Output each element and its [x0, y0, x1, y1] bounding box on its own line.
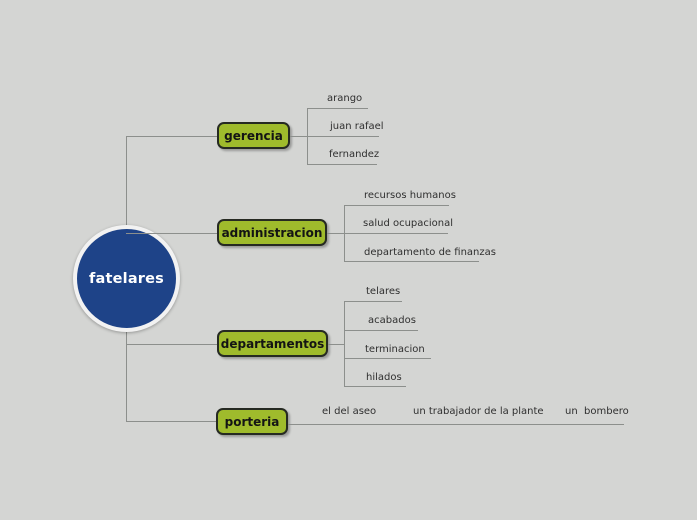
leaf-underline-terminacion: [344, 358, 431, 359]
leaf-underline-arango: [307, 108, 368, 109]
leaf-label-telares[interactable]: telares: [366, 286, 400, 298]
leaf-label-el-del-aseo[interactable]: el del aseo: [322, 406, 376, 418]
leaf-underline-porteria-group: [288, 424, 624, 425]
leaf-underline-acabados: [344, 330, 418, 331]
branch-node-departamentos[interactable]: departamentos: [217, 330, 328, 357]
leaf-underline-telares: [344, 301, 402, 302]
connector-root-to-gerencia: [126, 136, 218, 137]
leaf-underline-juan-rafael: [307, 136, 379, 137]
root-node-fatelares[interactable]: fatelares: [73, 225, 180, 332]
leaf-label-departamento-de-finanzas[interactable]: departamento de finanzas: [364, 247, 496, 259]
leaf-underline-departamento-de-finanzas: [344, 261, 479, 262]
connector-gerencia-stub: [290, 136, 308, 137]
leaf-underline-salud-ocupacional: [344, 233, 448, 234]
branch-node-label: porteria: [225, 415, 280, 429]
leaf-label-arango[interactable]: arango: [327, 93, 362, 105]
leaf-label-salud-ocupacional[interactable]: salud ocupacional: [363, 218, 453, 230]
connector-root-to-administracion: [126, 233, 218, 234]
leaf-underline-fernandez: [307, 164, 377, 165]
root-node-label: fatelares: [89, 271, 164, 287]
connector-administracion-stub: [327, 233, 345, 234]
leaf-label-un-bombero[interactable]: un bombero: [565, 406, 629, 418]
leaf-label-juan-rafael[interactable]: juan rafael: [330, 121, 384, 133]
branch-node-gerencia[interactable]: gerencia: [217, 122, 290, 149]
branch-node-label: gerencia: [224, 129, 283, 143]
branch-node-porteria[interactable]: porteria: [216, 408, 288, 435]
connector-root-to-departamentos: [126, 344, 218, 345]
connector-departamentos-stub: [328, 344, 345, 345]
branch-node-label: administracion: [222, 226, 323, 240]
leaf-label-acabados[interactable]: acabados: [368, 315, 416, 327]
mindmap-canvas: fatelares gerencia arango juan rafael fe…: [0, 0, 697, 520]
leaf-underline-recursos-humanos: [344, 205, 449, 206]
leaf-label-terminacion[interactable]: terminacion: [365, 344, 425, 356]
leaf-label-un-trabajador-de-la-plante[interactable]: un trabajador de la plante: [413, 406, 544, 418]
branch-node-label: departamentos: [221, 337, 324, 351]
leaf-label-recursos-humanos[interactable]: recursos humanos: [364, 190, 456, 202]
leaf-label-hilados[interactable]: hilados: [366, 372, 402, 384]
leaf-label-fernandez[interactable]: fernandez: [329, 149, 379, 161]
branch-node-administracion[interactable]: administracion: [217, 219, 327, 246]
sub-spine-departamentos: [344, 301, 345, 386]
connector-root-to-porteria: [126, 421, 217, 422]
leaf-underline-hilados: [344, 386, 406, 387]
